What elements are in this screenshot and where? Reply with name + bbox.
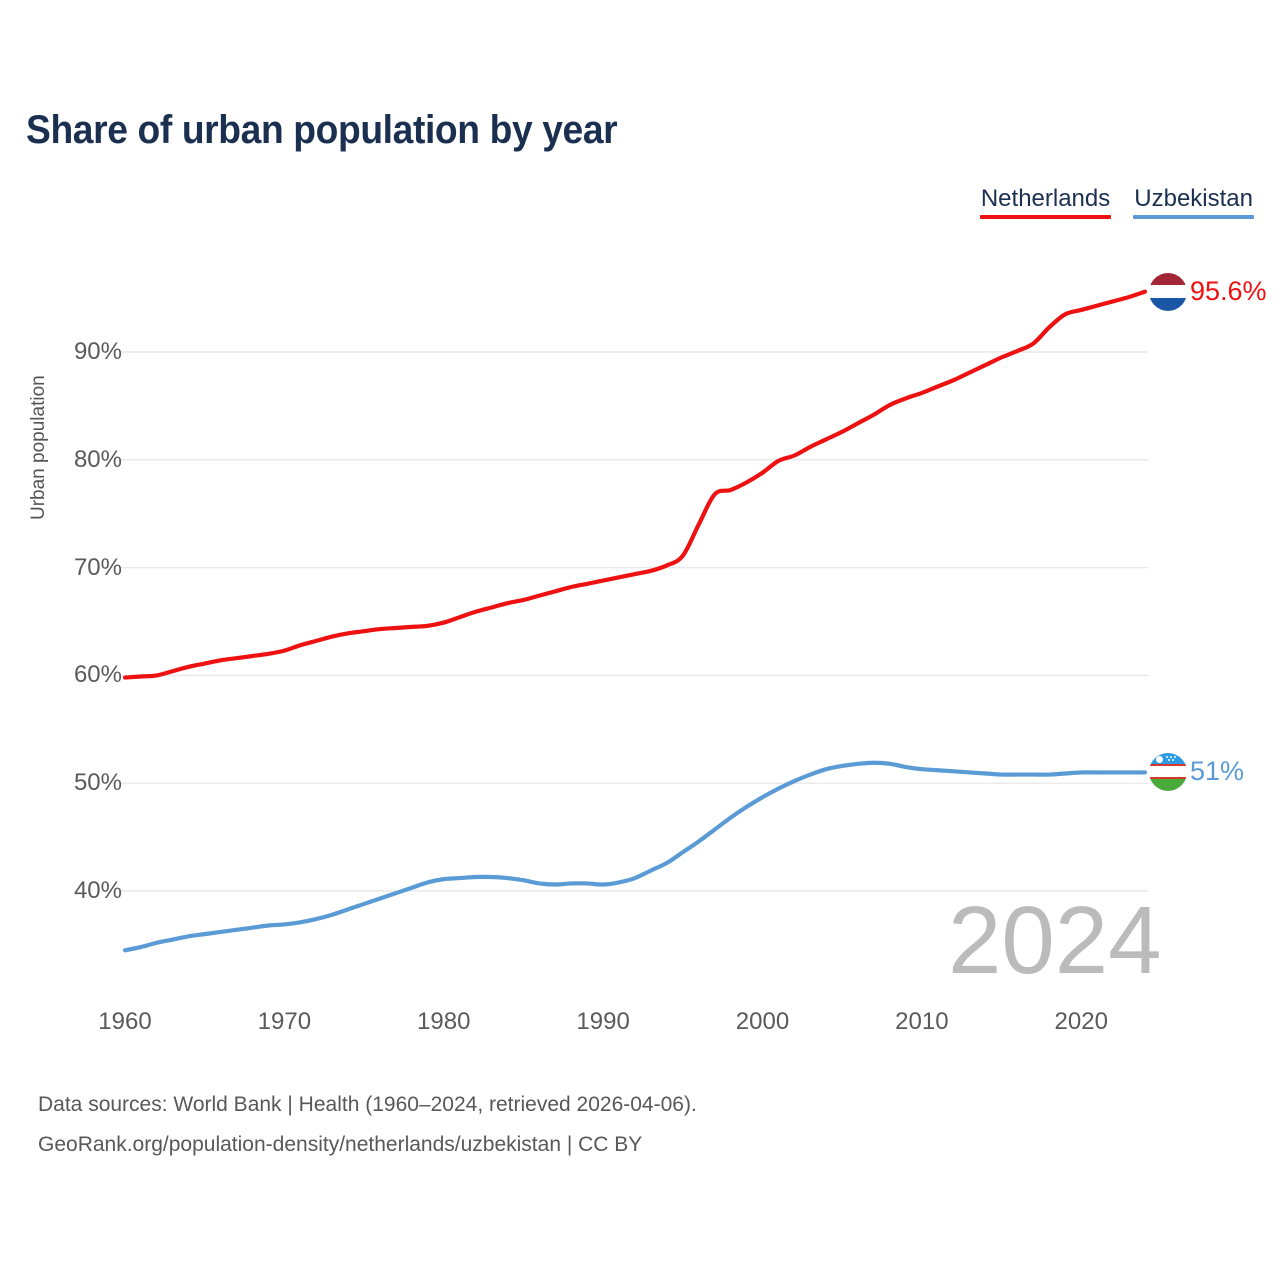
legend-color-swatch-uzbekistan	[1133, 215, 1254, 219]
footer-line-url[interactable]: GeoRank.org/population-density/netherlan…	[38, 1125, 697, 1165]
x-axis-tick-label: 2010	[895, 1008, 948, 1036]
y-axis-tick-label: 80%	[27, 446, 122, 474]
y-axis-tick-label: 70%	[27, 554, 122, 582]
x-axis-tick-label: 1980	[417, 1008, 470, 1036]
page-title: Share of urban population by year	[26, 108, 617, 153]
x-axis-tick-label: 2000	[736, 1008, 789, 1036]
x-axis-tick-label: 2020	[1055, 1008, 1108, 1036]
netherlands-flag-icon	[1149, 273, 1187, 311]
x-axis-tick-label: 1960	[98, 1008, 151, 1036]
flag-band-white	[1149, 285, 1187, 298]
x-axis-tick-label: 1970	[258, 1008, 311, 1036]
y-axis-tick-label: 40%	[27, 877, 122, 905]
legend-label-netherlands: Netherlands	[980, 185, 1111, 213]
legend-item-netherlands[interactable]: Netherlands	[980, 185, 1111, 219]
flag-band-blue	[1149, 298, 1187, 311]
flag-band-green	[1149, 779, 1187, 792]
flag-band-blue	[1149, 753, 1187, 766]
uzbekistan-flag-icon	[1149, 753, 1187, 791]
y-axis-tick-label: 50%	[27, 769, 122, 797]
crescent-moon-icon	[1156, 756, 1163, 763]
footer-attribution: Data sources: World Bank | Health (1960–…	[38, 1085, 697, 1165]
end-value-label-netherlands: 95.6%	[1190, 276, 1267, 307]
end-value-label-uzbekistan: 51%	[1190, 756, 1244, 787]
footer-line-sources: Data sources: World Bank | Health (1960–…	[38, 1085, 697, 1125]
y-axis-tick-label: 90%	[27, 338, 122, 366]
legend-item-uzbekistan[interactable]: Uzbekistan	[1133, 185, 1254, 219]
y-axis-tick-label: 60%	[27, 661, 122, 689]
legend-color-swatch-netherlands	[980, 215, 1111, 219]
flag-band-red	[1149, 273, 1187, 286]
stars-icon	[1165, 755, 1181, 763]
x-axis-tick-label: 1990	[576, 1008, 629, 1036]
year-watermark: 2024	[948, 893, 1162, 989]
legend-label-uzbekistan: Uzbekistan	[1133, 185, 1254, 213]
chart-legend: Netherlands Uzbekistan	[980, 185, 1254, 219]
series-line-netherlands	[125, 292, 1145, 678]
flag-band-white	[1149, 766, 1187, 779]
